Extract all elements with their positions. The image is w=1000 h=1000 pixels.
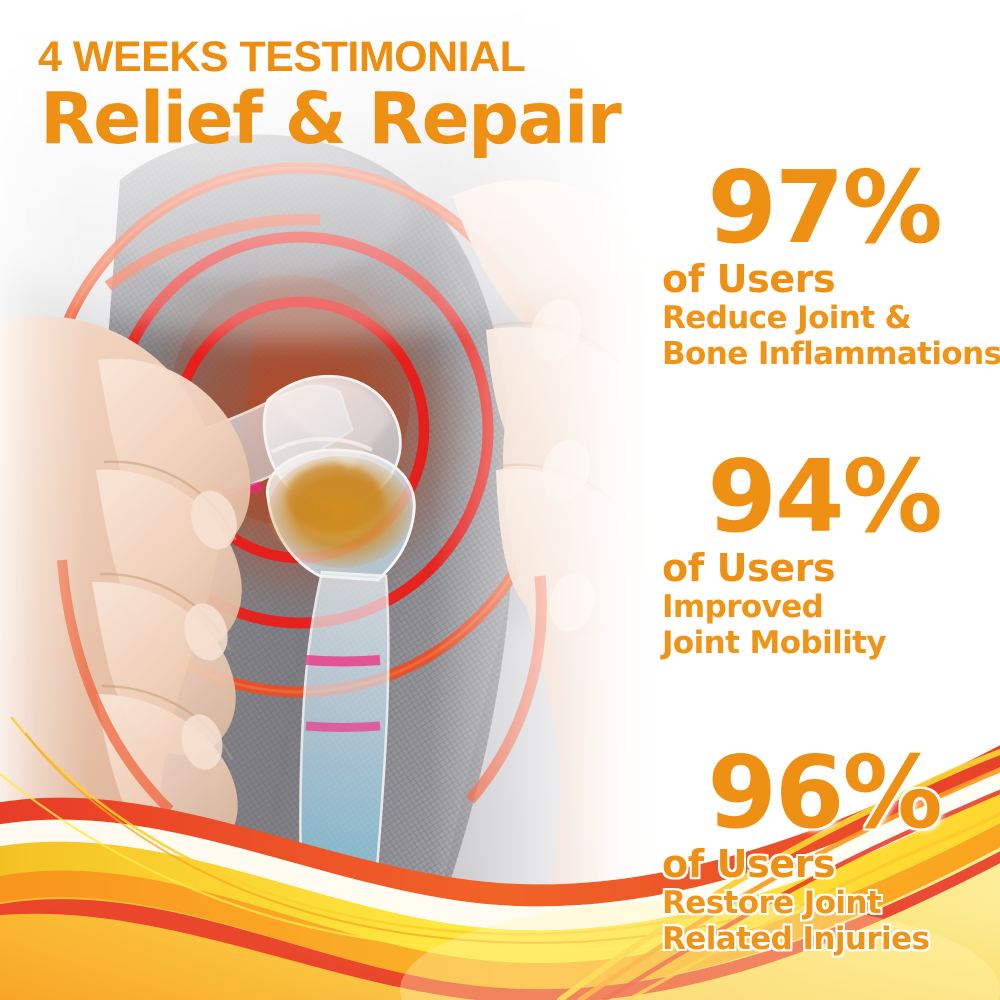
stat-users-label-3: of Users (662, 845, 1000, 885)
stat-desc-line-2b: Joint Mobility (662, 626, 1000, 662)
stat-block-2: 94% of Users Improved Joint Mobility (648, 447, 1000, 662)
stat-desc-line-3b: Related Injuries (662, 922, 1000, 958)
poster-headings: 4 WEEKS TESTIMONIAL Relief & Repair (32, 36, 672, 154)
stat-description-1: Reduce Joint & Bone Inflammations (662, 301, 1000, 373)
stat-percent-3: 96% (648, 743, 1000, 843)
stat-percent-1: 97% (648, 158, 1000, 258)
stat-block-3: 96% of Users Restore Joint Related Injur… (648, 743, 1000, 958)
kicker-text: 4 WEEKS TESTIMONIAL (38, 36, 672, 79)
stat-users-label-2: of Users (662, 549, 1000, 589)
stat-percent-2: 94% (648, 447, 1000, 547)
stat-description-3: Restore Joint Related Injuries (662, 886, 1000, 958)
stat-desc-line-1a: Reduce Joint & (662, 301, 1000, 337)
stat-description-2: Improved Joint Mobility (662, 590, 1000, 662)
stat-users-label-1: of Users (662, 260, 1000, 300)
stats-column: 97% of Users Reduce Joint & Bone Inflamm… (648, 0, 1000, 1000)
page-title: Relief & Repair (40, 83, 672, 154)
stat-desc-line-1b: Bone Inflammations (662, 337, 1000, 373)
stat-desc-line-2a: Improved (662, 590, 1000, 626)
stat-desc-line-3a: Restore Joint (662, 886, 1000, 922)
stat-block-1: 97% of Users Reduce Joint & Bone Inflamm… (648, 158, 1000, 373)
testimonial-poster: 4 WEEKS TESTIMONIAL Relief & Repair 97% … (0, 0, 1000, 1000)
